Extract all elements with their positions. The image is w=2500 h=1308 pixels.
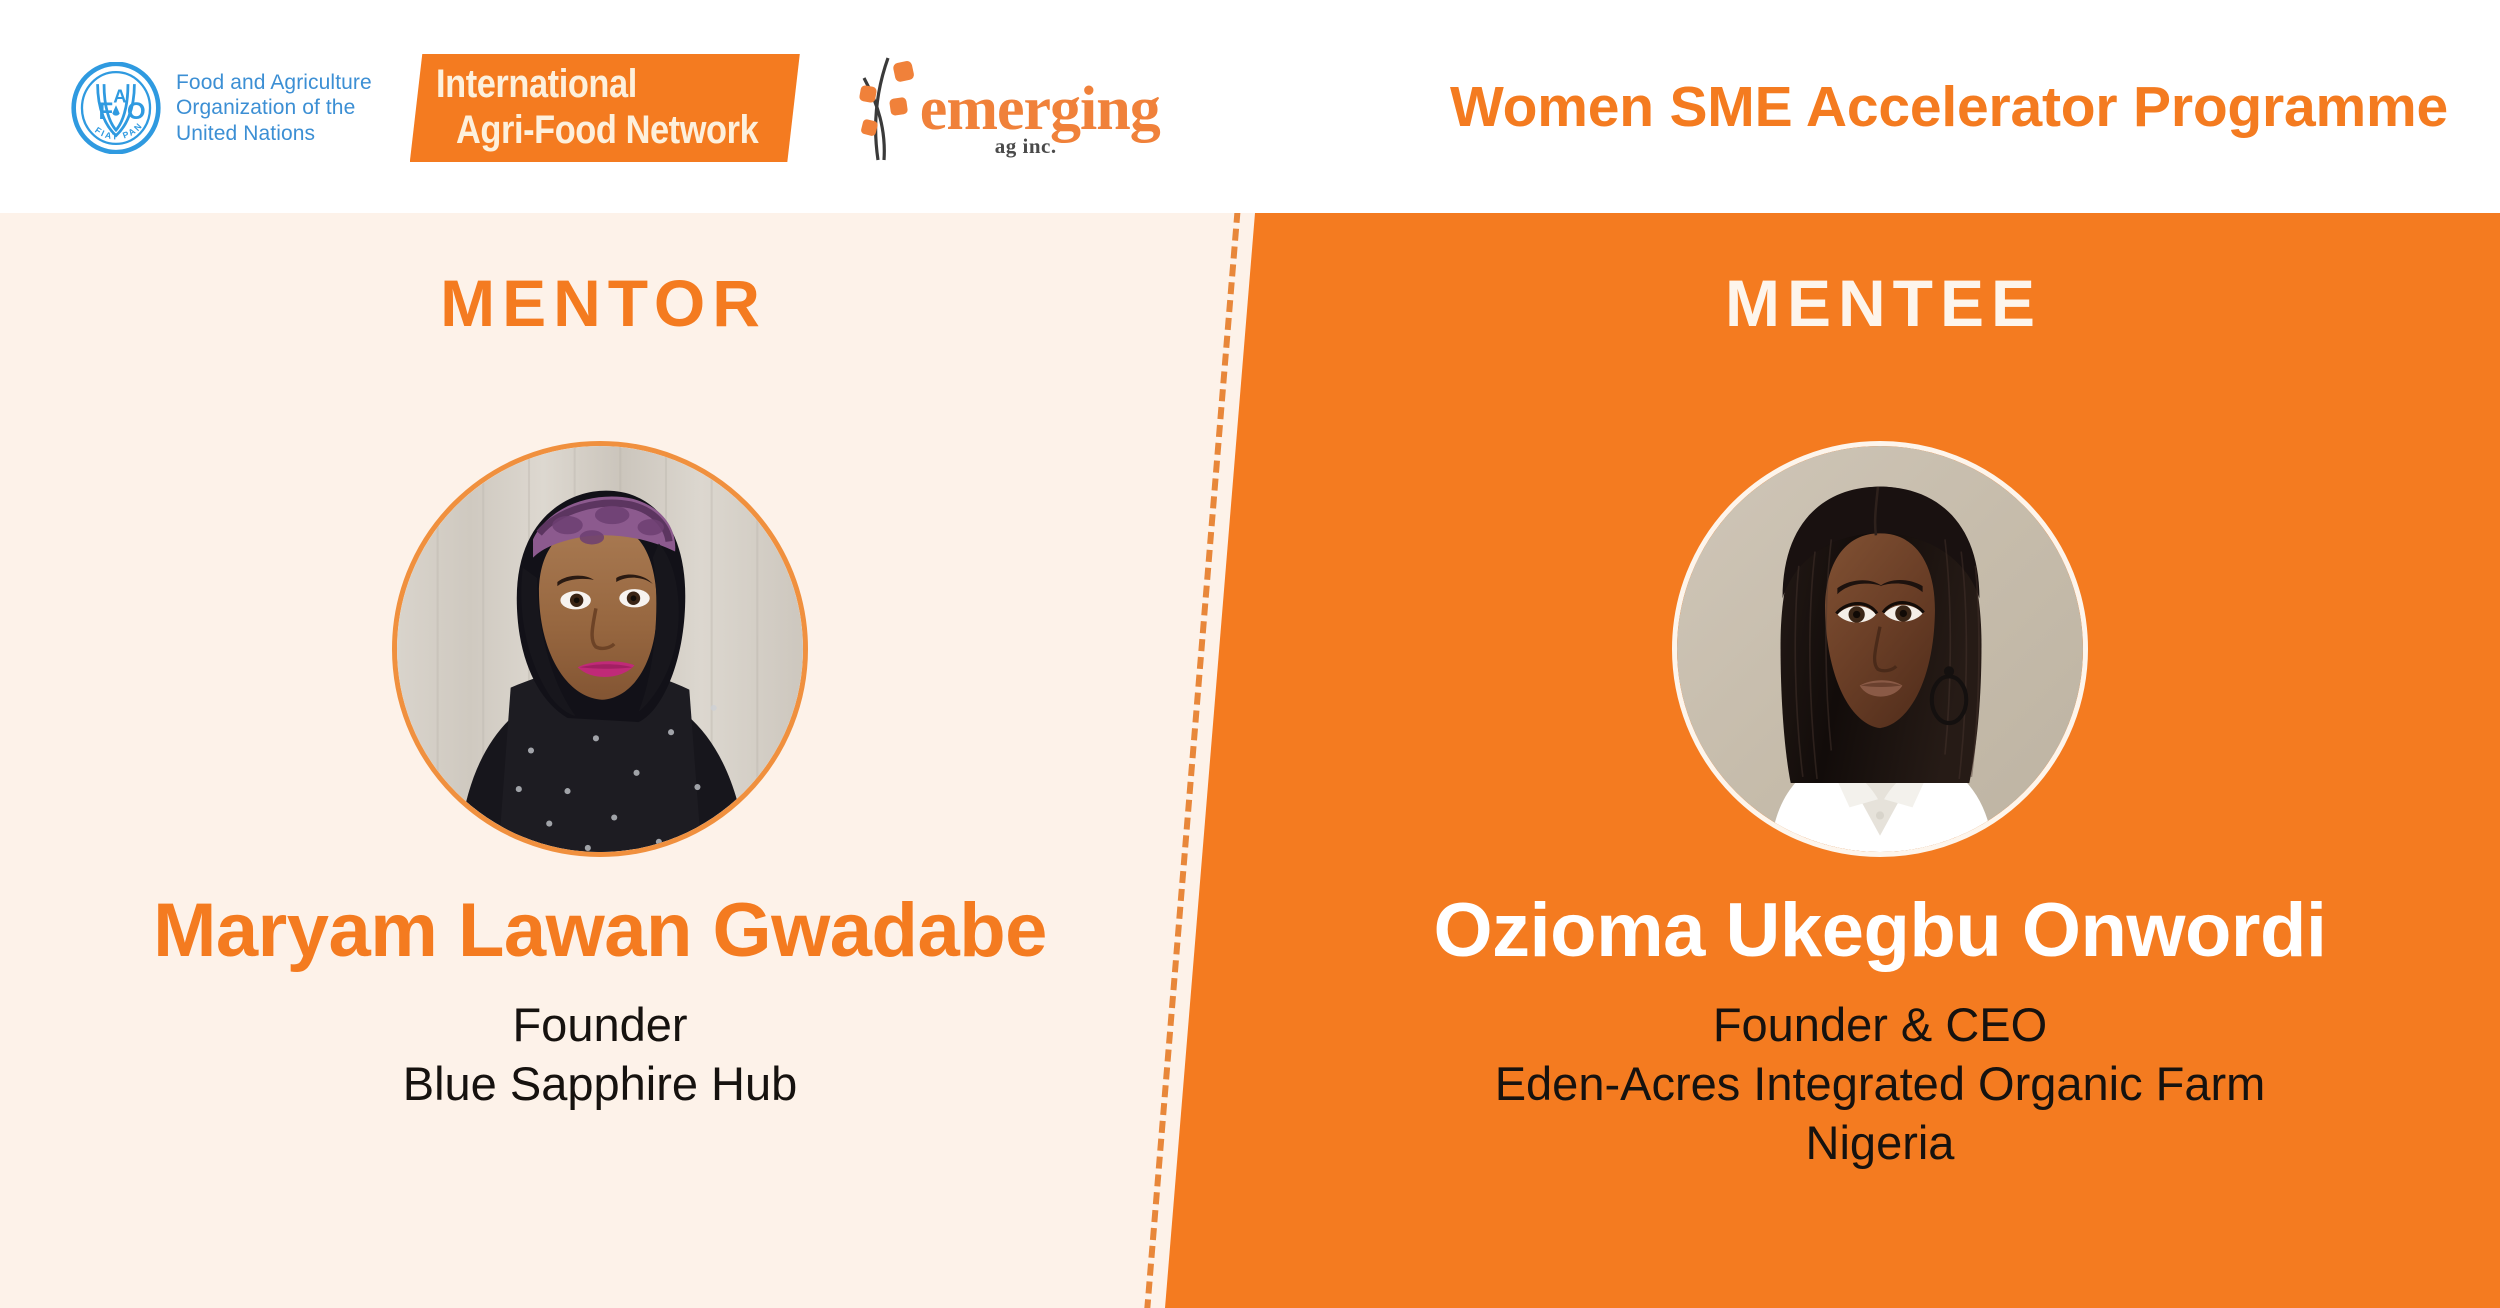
mentor-role-heading: MENTOR [50, 265, 1150, 341]
emerging-ag-logo: emerging ag inc. [842, 48, 1132, 168]
mentor-details: Founder Blue Sapphire Hub [50, 995, 1150, 1113]
content-stage: MENTOR [0, 213, 2500, 1308]
mentor-avatar [392, 441, 808, 857]
emerging-subtext: ag inc. [995, 134, 1057, 159]
mentor-name: Maryam Lawan Gwadabe [50, 891, 1150, 971]
mentee-details: Founder & CEO Eden-Acres Integrated Orga… [1330, 995, 2430, 1173]
mentorship-card: F A O FIAT PANIS Food and Agriculture Or… [0, 0, 2500, 1308]
fao-emblem-icon: F A O FIAT PANIS [70, 62, 162, 154]
mentee-avatar [1672, 441, 2088, 857]
logo-strip: F A O FIAT PANIS Food and Agriculture Or… [70, 28, 1132, 188]
mentee-role-heading: MENTEE [1330, 265, 2430, 341]
fao-logo: F A O FIAT PANIS Food and Agriculture Or… [70, 62, 372, 154]
mentee-column: MENTEE [1330, 213, 2430, 1308]
emerging-wordmark: emerging [920, 78, 1160, 140]
svg-text:F: F [99, 98, 114, 125]
iafn-line-2: Agri-Food Network [456, 108, 758, 153]
programme-title: Women SME Accelerator Programme [1450, 74, 2448, 140]
iafn-logo: International Agri-Food Network [410, 54, 800, 162]
fao-logo-text: Food and Agriculture Organization of the… [176, 70, 372, 147]
iafn-line-1: International [436, 62, 637, 107]
svg-text:O: O [127, 98, 146, 125]
mentee-name: Ozioma Ukegbu Onwordi [1330, 891, 2430, 971]
mentor-column: MENTOR [50, 213, 1150, 1308]
svg-text:A: A [113, 85, 126, 106]
header-bar: F A O FIAT PANIS Food and Agriculture Or… [0, 0, 2500, 213]
